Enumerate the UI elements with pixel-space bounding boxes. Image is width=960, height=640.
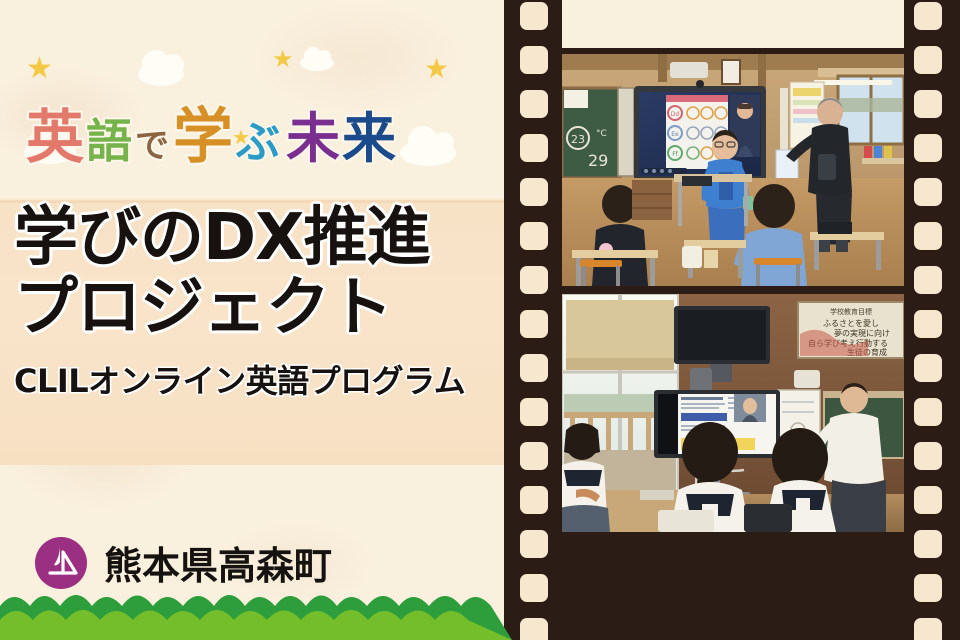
sprocket-hole-icon — [914, 222, 942, 250]
sprocket-hole-icon — [914, 574, 942, 602]
filmstrip-sprockets-right — [902, 0, 954, 640]
brush-title-char-2: 語 — [86, 105, 132, 171]
cloud-decoration-icon — [138, 62, 184, 86]
green-hills-decoration — [0, 580, 512, 640]
svg-text:Dd: Dd — [671, 111, 680, 118]
poster-root: ★ ★ ★ ★ ★ 英 語 で 学 ぶ 未 来 学びのDX推進 プロジェクト C… — [0, 0, 960, 640]
star-icon: ★ — [272, 48, 294, 72]
headline-line-1: 学びのDX推進 — [14, 206, 504, 272]
sprocket-hole-icon — [914, 442, 942, 470]
sprocket-hole-icon — [520, 354, 548, 382]
brush-title-char-6: 未 — [286, 94, 340, 173]
sprocket-hole-icon — [520, 2, 548, 30]
sprocket-hole-icon — [520, 442, 548, 470]
filmstrip-blank-frame — [562, 0, 904, 48]
sprocket-hole-icon — [914, 90, 942, 118]
headline-line-2: プロジェクト — [14, 276, 504, 342]
sprocket-hole-icon — [914, 530, 942, 558]
photo-junior-high-clil-lesson: 学校教育目標 ふるさとを愛し 夢の実現に向け 自ら学び考え行動する 生徒の育成 — [562, 294, 904, 532]
svg-text:ふるさとを愛し: ふるさとを愛し — [823, 318, 879, 328]
sprocket-hole-icon — [520, 310, 548, 338]
sprocket-hole-icon — [914, 266, 942, 294]
svg-text:学校教育目標: 学校教育目標 — [830, 307, 872, 316]
sprocket-hole-icon — [520, 266, 548, 294]
left-content-panel: ★ ★ ★ ★ ★ 英 語 で 学 ぶ 未 来 学びのDX推進 プロジェクト C… — [0, 0, 512, 640]
sprocket-hole-icon — [520, 178, 548, 206]
sprocket-hole-icon — [914, 398, 942, 426]
brush-title-char-5: ぶ — [236, 106, 280, 170]
photo-frame-elementary: 23 °C 29 Dd — [562, 54, 904, 286]
sprocket-hole-icon — [914, 354, 942, 382]
brush-title-char-3: で — [135, 118, 169, 167]
svg-text:23: 23 — [571, 133, 585, 146]
sprocket-hole-icon — [914, 2, 942, 30]
star-icon: ★ — [424, 55, 449, 83]
brush-title-char-7: 来 — [342, 94, 396, 173]
filmstrip-sprockets-left — [508, 0, 560, 640]
sprocket-hole-icon — [914, 46, 942, 74]
brush-title: 英 語 で 学 ぶ 未 来 — [26, 88, 396, 175]
cloud-decoration-icon — [300, 55, 334, 71]
svg-text:Ff: Ff — [672, 151, 678, 158]
sprocket-hole-icon — [914, 134, 942, 162]
sprocket-hole-icon — [520, 134, 548, 162]
sprocket-hole-icon — [520, 222, 548, 250]
sprocket-hole-icon — [914, 618, 942, 640]
sprocket-hole-icon — [520, 618, 548, 640]
photo-frame-junior-high: 学校教育目標 ふるさとを愛し 夢の実現に向け 自ら学び考え行動する 生徒の育成 — [562, 294, 904, 532]
sprocket-hole-icon — [520, 574, 548, 602]
brush-title-char-4: 学 — [173, 88, 233, 175]
sprocket-hole-icon — [520, 486, 548, 514]
sprocket-hole-icon — [520, 46, 548, 74]
sprocket-hole-icon — [914, 178, 942, 206]
svg-text:°C: °C — [596, 129, 607, 139]
sprocket-hole-icon — [520, 398, 548, 426]
sprocket-hole-icon — [914, 310, 942, 338]
star-icon: ★ — [26, 54, 53, 84]
headline-subtitle: CLILオンライン英語プログラム — [14, 356, 504, 402]
svg-text:29: 29 — [588, 151, 608, 170]
headline-block: 学びのDX推進 プロジェクト CLILオンライン英語プログラム — [14, 206, 504, 402]
sprocket-hole-icon — [914, 486, 942, 514]
svg-text:Ee: Ee — [671, 131, 679, 138]
sprocket-hole-icon — [520, 530, 548, 558]
svg-text:夢の実現に向け: 夢の実現に向け — [834, 328, 890, 338]
sprocket-hole-icon — [520, 90, 548, 118]
photo-elementary-clil-lesson: 23 °C 29 Dd — [562, 54, 904, 286]
cloud-decoration-icon — [400, 140, 456, 166]
brush-title-char-1: 英 — [26, 90, 84, 174]
filmstrip: 23 °C 29 Dd — [504, 0, 960, 640]
